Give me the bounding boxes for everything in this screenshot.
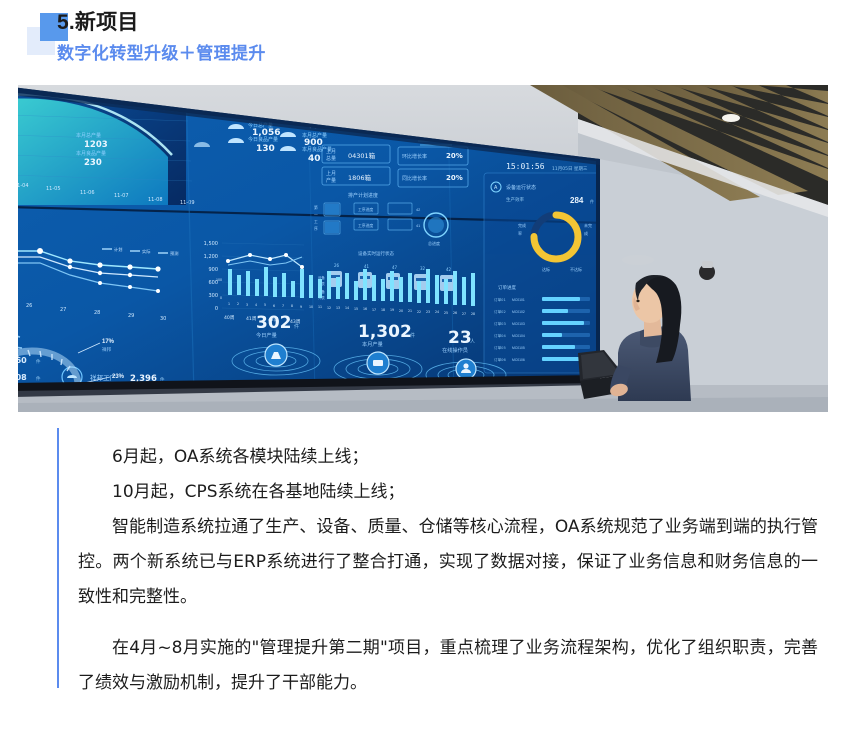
svg-text:实际: 实际 bbox=[142, 248, 150, 255]
svg-text:47: 47 bbox=[392, 265, 398, 270]
page-subtitle: 数字化转型升级＋管理提升 bbox=[57, 41, 266, 67]
svg-text:人: 人 bbox=[470, 339, 475, 345]
svg-text:不达标: 不达标 bbox=[570, 266, 582, 272]
svg-text:9: 9 bbox=[300, 305, 302, 309]
svg-text:26: 26 bbox=[26, 303, 32, 309]
svg-text:本月总产量: 本月总产量 bbox=[76, 132, 101, 139]
svg-text:21: 21 bbox=[408, 309, 412, 313]
svg-text:42: 42 bbox=[416, 208, 420, 212]
svg-text:29: 29 bbox=[128, 313, 134, 319]
svg-text:MC0105: MC0105 bbox=[512, 346, 525, 350]
svg-text:8: 8 bbox=[291, 304, 293, 308]
svg-text:20%: 20% bbox=[446, 152, 463, 160]
svg-text:130: 130 bbox=[256, 144, 275, 154]
body-line-2: 10月起，CPS系统在各基地陆续上线； bbox=[78, 475, 818, 510]
photo-illustration: 11-0411-05 11-0611-07 11-0811-09 bbox=[18, 85, 828, 412]
svg-text:100: 100 bbox=[216, 278, 222, 282]
svg-text:108: 108 bbox=[18, 373, 27, 382]
svg-text:工序进度: 工序进度 bbox=[358, 223, 373, 228]
svg-text:41: 41 bbox=[364, 264, 370, 269]
svg-text:23: 23 bbox=[448, 328, 472, 348]
svg-text:产量: 产量 bbox=[326, 177, 336, 184]
svg-text:总进度: 总进度 bbox=[428, 240, 440, 246]
svg-text:1: 1 bbox=[228, 302, 230, 306]
svg-text:成: 成 bbox=[584, 230, 588, 236]
svg-text:11-07: 11-07 bbox=[114, 193, 129, 199]
svg-text:17%: 17% bbox=[102, 339, 115, 345]
svg-text:0: 0 bbox=[215, 306, 218, 312]
svg-text:祥邦: 祥邦 bbox=[102, 346, 111, 353]
svg-text:生产效率: 生产效率 bbox=[506, 196, 524, 203]
svg-text:23%: 23% bbox=[112, 374, 125, 380]
svg-text:26: 26 bbox=[334, 263, 340, 268]
svg-text:15:01:56: 15:01:56 bbox=[506, 162, 545, 171]
svg-text:上月: 上月 bbox=[326, 148, 336, 155]
svg-text:件: 件 bbox=[36, 358, 41, 365]
svg-text:3: 3 bbox=[246, 303, 248, 307]
svg-text:18: 18 bbox=[381, 308, 385, 312]
svg-text:19: 19 bbox=[390, 308, 394, 312]
svg-text:1,500: 1,500 bbox=[204, 241, 218, 247]
page-title: 5.新项目 bbox=[57, 8, 139, 38]
slide-page: 5.新项目 数字化转型升级＋管理提升 bbox=[0, 0, 856, 735]
svg-text:0: 0 bbox=[220, 296, 222, 300]
svg-text:13: 13 bbox=[336, 306, 340, 310]
svg-text:28: 28 bbox=[94, 310, 100, 316]
svg-text:16: 16 bbox=[363, 307, 367, 311]
svg-text:1,302: 1,302 bbox=[358, 322, 412, 342]
svg-text:完成: 完成 bbox=[518, 222, 526, 228]
svg-text:11-08: 11-08 bbox=[148, 197, 163, 203]
svg-text:同比增长率: 同比增长率 bbox=[402, 175, 427, 182]
svg-text:300: 300 bbox=[208, 293, 218, 299]
svg-text:1,200: 1,200 bbox=[204, 254, 218, 260]
svg-text:24: 24 bbox=[435, 310, 439, 314]
svg-text:230: 230 bbox=[84, 158, 102, 168]
svg-text:27: 27 bbox=[60, 307, 66, 313]
svg-text:总量: 总量 bbox=[326, 155, 336, 162]
svg-text:MC0104: MC0104 bbox=[512, 334, 525, 338]
svg-text:MC0106: MC0106 bbox=[512, 358, 525, 362]
svg-text:302: 302 bbox=[256, 313, 292, 333]
body-paragraph-2: 在4月~8月实施的"管理提升第二期"项目，重点梳理了业务流程架构，优化了组织职责… bbox=[78, 631, 818, 701]
svg-text:订单04: 订单04 bbox=[494, 333, 506, 338]
svg-text:11-05: 11-05 bbox=[46, 186, 61, 192]
svg-text:23: 23 bbox=[426, 310, 430, 314]
svg-text:上月: 上月 bbox=[326, 170, 336, 177]
svg-text:30: 30 bbox=[160, 316, 166, 322]
svg-text:11-06: 11-06 bbox=[80, 190, 95, 196]
svg-text:件: 件 bbox=[294, 323, 299, 330]
svg-text:32: 32 bbox=[420, 266, 426, 271]
svg-text:今日产量: 今日产量 bbox=[256, 331, 277, 339]
body-line-1: 6月起，OA系统各模块陆续上线； bbox=[78, 440, 818, 475]
body-text-block: 6月起，OA系统各模块陆续上线； 10月起，CPS系统在各基地陆续上线； 智能制… bbox=[78, 440, 818, 701]
svg-text:第: 第 bbox=[314, 205, 318, 210]
svg-text:7: 7 bbox=[282, 304, 284, 308]
svg-text:件: 件 bbox=[410, 332, 415, 339]
svg-text:工: 工 bbox=[314, 220, 318, 224]
body-paragraph-1: 智能制造系统拉通了生产、设备、质量、仓储等核心流程，OA系统规范了业务端到端的执… bbox=[78, 510, 818, 615]
svg-text:订单05: 订单05 bbox=[494, 345, 506, 350]
svg-text:计划: 计划 bbox=[114, 246, 122, 253]
svg-text:1806箱: 1806箱 bbox=[348, 173, 372, 182]
svg-text:本月产量: 本月产量 bbox=[362, 340, 383, 348]
svg-text:22: 22 bbox=[417, 310, 421, 314]
svg-text:MC0101: MC0101 bbox=[512, 298, 525, 302]
svg-text:17: 17 bbox=[372, 308, 376, 312]
svg-text:一: 一 bbox=[314, 213, 318, 217]
svg-text:560: 560 bbox=[18, 356, 27, 365]
svg-text:40周: 40周 bbox=[224, 315, 235, 321]
svg-text:未完: 未完 bbox=[584, 222, 592, 228]
svg-text:40: 40 bbox=[308, 154, 321, 164]
svg-text:排产计划进度: 排产计划进度 bbox=[348, 192, 378, 199]
svg-text:11: 11 bbox=[318, 305, 322, 309]
svg-text:04301箱: 04301箱 bbox=[348, 151, 376, 160]
svg-text:订单03: 订单03 bbox=[494, 321, 506, 326]
svg-text:1203: 1203 bbox=[84, 140, 108, 150]
svg-text:11月05日 星期三: 11月05日 星期三 bbox=[552, 166, 588, 172]
svg-text:订单进度: 订单进度 bbox=[498, 284, 516, 291]
svg-text:900: 900 bbox=[208, 267, 218, 273]
svg-text:本月良品产量: 本月良品产量 bbox=[76, 150, 106, 157]
svg-text:6: 6 bbox=[273, 304, 275, 308]
svg-text:订单01: 订单01 bbox=[494, 297, 506, 302]
svg-text:2: 2 bbox=[237, 302, 239, 306]
svg-text:25: 25 bbox=[444, 311, 448, 315]
svg-text:15: 15 bbox=[354, 307, 358, 311]
svg-text:900: 900 bbox=[304, 138, 323, 148]
svg-text:5: 5 bbox=[264, 303, 266, 307]
svg-text:设备实时运行状态: 设备实时运行状态 bbox=[358, 250, 394, 257]
svg-text:环比增长率: 环比增长率 bbox=[402, 153, 427, 160]
svg-text:率: 率 bbox=[518, 230, 522, 236]
svg-text:284: 284 bbox=[570, 196, 584, 205]
svg-text:MC0103: MC0103 bbox=[512, 322, 525, 326]
svg-text:14: 14 bbox=[345, 306, 349, 310]
svg-text:11-04: 11-04 bbox=[18, 183, 29, 189]
control-center-photo: 11-0411-05 11-0611-07 11-0811-09 bbox=[18, 85, 828, 412]
svg-text:MC0102: MC0102 bbox=[512, 310, 525, 314]
svg-text:件: 件 bbox=[590, 198, 594, 204]
svg-text:28: 28 bbox=[471, 312, 475, 316]
svg-text:预测: 预测 bbox=[170, 250, 178, 257]
svg-text:件: 件 bbox=[36, 375, 41, 382]
page-header: 5.新项目 数字化转型升级＋管理提升 bbox=[0, 0, 856, 80]
svg-text:工序进度: 工序进度 bbox=[358, 207, 373, 212]
left-accent-rule bbox=[57, 428, 59, 688]
svg-text:设备运行状态: 设备运行状态 bbox=[506, 184, 536, 191]
svg-text:26: 26 bbox=[453, 311, 457, 315]
svg-text:20: 20 bbox=[399, 309, 403, 313]
svg-text:11-09: 11-09 bbox=[180, 200, 195, 206]
svg-text:在线操作员: 在线操作员 bbox=[442, 346, 468, 354]
svg-text:42: 42 bbox=[446, 267, 452, 272]
svg-text:27: 27 bbox=[462, 312, 466, 316]
svg-text:达标: 达标 bbox=[542, 266, 550, 272]
svg-text:订单02: 订单02 bbox=[494, 309, 506, 314]
svg-text:序: 序 bbox=[314, 226, 318, 231]
svg-text:1,056: 1,056 bbox=[252, 128, 280, 138]
svg-text:4: 4 bbox=[255, 303, 257, 307]
svg-text:10: 10 bbox=[309, 305, 313, 309]
svg-text:订单06: 订单06 bbox=[494, 357, 506, 362]
svg-text:12: 12 bbox=[327, 306, 331, 310]
svg-text:41: 41 bbox=[416, 224, 420, 228]
svg-text:20%: 20% bbox=[446, 174, 463, 182]
